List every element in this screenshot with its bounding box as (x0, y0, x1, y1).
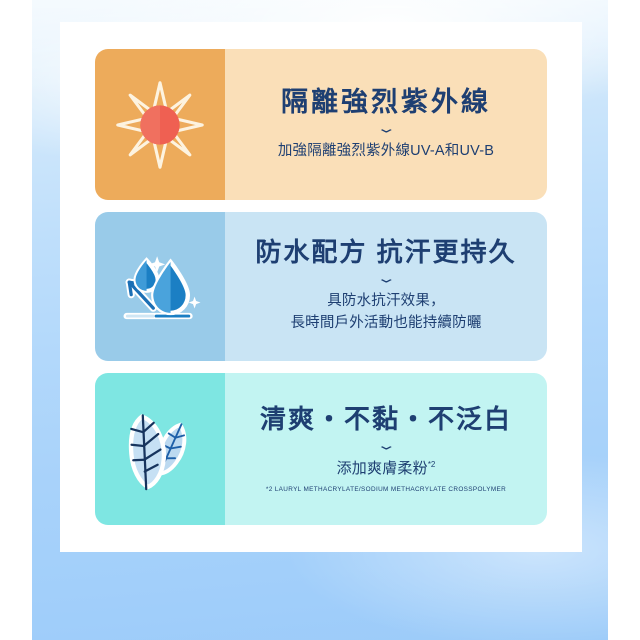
chevron-down-icon: ⌄ (375, 272, 396, 285)
content-panel: 隔離強烈紫外線 ⌄ 加強隔離強烈紫外線UV-A和UV-B (60, 22, 582, 552)
feature-card-uv-protection: 隔離強烈紫外線 ⌄ 加強隔離強烈紫外線UV-A和UV-B (95, 49, 547, 200)
water-droplet-repel-icon (112, 239, 208, 335)
ingredient-footnote: *2 LAURYL METHACRYLATE/SODIUM METHACRYLA… (266, 486, 506, 493)
icon-pane-refreshing (95, 373, 225, 525)
icon-pane-waterproof (95, 212, 225, 361)
chevron-down-icon: ⌄ (375, 439, 396, 452)
card-body-text: 添加爽膚柔粉 (337, 460, 428, 477)
text-pane-refreshing: 清爽・不黏・不泛白 ⌄ 添加爽膚柔粉*2 *2 LAURYL METHACRYL… (225, 373, 547, 525)
text-pane-uv-protection: 隔離強烈紫外線 ⌄ 加強隔離強烈紫外線UV-A和UV-B (225, 49, 547, 200)
card-body-line: 添加爽膚柔粉*2 (337, 458, 436, 481)
card-headline: 清爽・不黏・不泛白 (260, 405, 512, 434)
body-superscript: *2 (428, 460, 436, 469)
card-headline: 防水配方 抗汗更持久 (255, 238, 516, 267)
card-headline: 隔離強烈紫外線 (281, 87, 491, 117)
chevron-down-icon: ⌄ (375, 122, 396, 135)
icon-pane-uv-protection (95, 49, 225, 200)
card-body-line: 長時間戶外活動也能持續防曬 (290, 313, 481, 335)
feather-icon (111, 400, 209, 498)
text-pane-waterproof: 防水配方 抗汗更持久 ⌄ 具防水抗汗效果， 長時間戶外活動也能持續防曬 (225, 212, 547, 361)
card-body-line: 加強隔離強烈紫外線UV-A和UV-B (278, 141, 494, 163)
feature-card-refreshing: 清爽・不黏・不泛白 ⌄ 添加爽膚柔粉*2 *2 LAURYL METHACRYL… (95, 373, 547, 525)
feature-card-waterproof: 防水配方 抗汗更持久 ⌄ 具防水抗汗效果， 長時間戶外活動也能持續防曬 (95, 212, 547, 361)
card-body-line: 具防水抗汗效果， (327, 291, 445, 313)
product-feature-graphic: 隔離強烈紫外線 ⌄ 加強隔離強烈紫外線UV-A和UV-B (0, 0, 640, 640)
sun-icon (112, 77, 208, 173)
